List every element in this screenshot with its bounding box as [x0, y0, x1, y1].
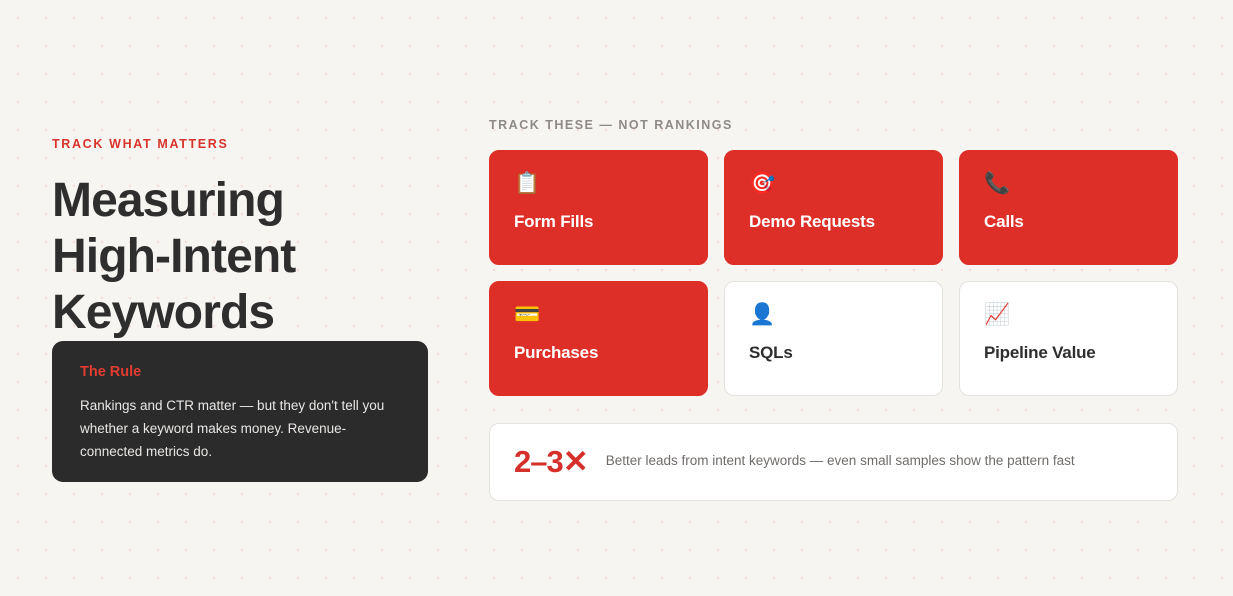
metric-card-label: Purchases — [514, 344, 683, 361]
metric-card-pipeline-value[interactable]: 📈 Pipeline Value — [959, 281, 1178, 396]
metrics-eyebrow-label: Track These — Not Rankings — [489, 119, 1178, 132]
metric-card-sqls[interactable]: 👤 SQLs — [724, 281, 943, 396]
metric-card-form-fills[interactable]: 📋 Form Fills — [489, 150, 708, 265]
page-root: Track What Matters Measuring High-Intent… — [0, 0, 1233, 596]
metrics-column: Track These — Not Rankings 📋 Form Fills … — [489, 119, 1178, 501]
metric-card-label: Pipeline Value — [984, 344, 1153, 361]
metric-card-label: Calls — [984, 213, 1153, 230]
left-eyebrow-label: Track What Matters — [52, 138, 432, 151]
metric-card-label: Demo Requests — [749, 213, 918, 230]
rule-callout: The Rule Rankings and CTR matter — but t… — [52, 341, 428, 482]
metric-card-demo-requests[interactable]: 🎯 Demo Requests — [724, 150, 943, 265]
page-title: Measuring High-Intent Keywords — [52, 173, 382, 341]
clipboard-icon: 📋 — [514, 173, 683, 199]
credit-card-icon: 💳 — [514, 304, 683, 330]
rule-callout-title: The Rule — [80, 365, 400, 380]
telephone-icon: 📞 — [984, 173, 1153, 199]
target-icon: 🎯 — [749, 173, 918, 199]
metric-card-label: SQLs — [749, 344, 918, 361]
intro-column: Track What Matters Measuring High-Intent… — [52, 138, 432, 341]
stat-value: 2–3✕ — [514, 446, 588, 477]
chart-increasing-icon: 📈 — [984, 304, 1153, 330]
stat-description: Better leads from intent keywords — even… — [606, 452, 1075, 471]
rule-callout-body: Rankings and CTR matter — but they don't… — [80, 394, 400, 464]
person-icon: 👤 — [749, 304, 918, 330]
metric-card-calls[interactable]: 📞 Calls — [959, 150, 1178, 265]
metric-card-label: Form Fills — [514, 213, 683, 230]
metric-card-purchases[interactable]: 💳 Purchases — [489, 281, 708, 396]
stat-highlight-bar: 2–3✕ Better leads from intent keywords —… — [489, 423, 1178, 501]
metrics-card-grid: 📋 Form Fills 🎯 Demo Requests 📞 Calls 💳 P… — [489, 150, 1178, 396]
